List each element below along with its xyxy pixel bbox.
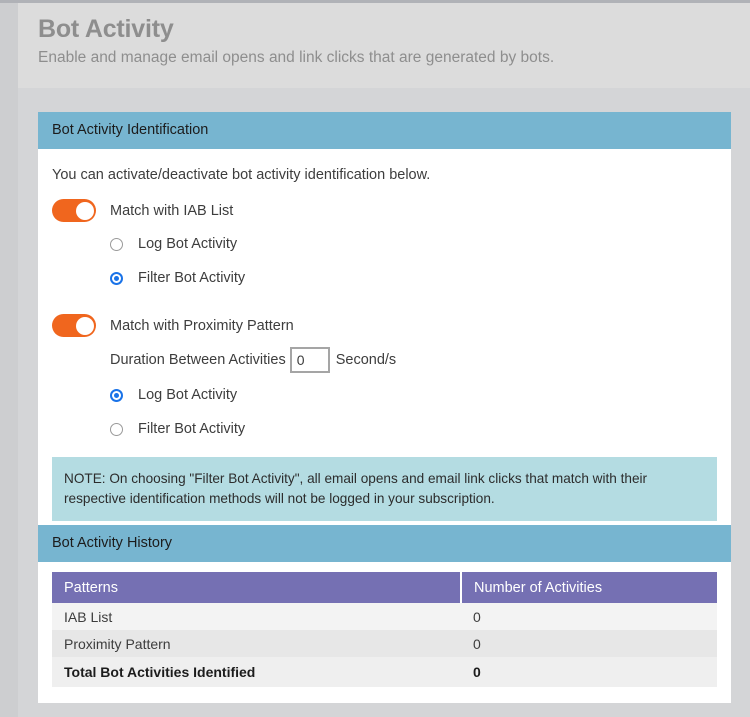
table-header-row: Patterns Number of Activities [52, 572, 717, 603]
radio-row-iab-filter[interactable]: Filter Bot Activity [52, 264, 717, 292]
radio-iab-filter-bot-activity[interactable] [110, 272, 123, 285]
radio-row-iab-log[interactable]: Log Bot Activity [52, 230, 717, 258]
radio-row-proximity-filter[interactable]: Filter Bot Activity [52, 415, 717, 443]
note-box: NOTE: On choosing "Filter Bot Activity",… [52, 457, 717, 521]
cell-pattern-proximity: Proximity Pattern [52, 630, 461, 657]
card-bot-activity-history: Bot Activity History Patterns Number of … [38, 525, 731, 703]
card-header-identification: Bot Activity Identification [38, 112, 731, 149]
cell-total-count: 0 [461, 657, 717, 687]
duration-input[interactable] [290, 347, 330, 373]
card-bot-activity-identification: Bot Activity Identification You can acti… [38, 112, 731, 535]
column-header-patterns: Patterns [52, 572, 461, 603]
column-header-number-of-activities: Number of Activities [461, 572, 717, 603]
radio-proximity-filter-bot-activity[interactable] [110, 423, 123, 436]
cell-pattern-iab-list: IAB List [52, 603, 461, 630]
content-area: Bot Activity Identification You can acti… [18, 88, 750, 717]
table-row: IAB List 0 [52, 603, 717, 630]
cell-count-proximity: 0 [461, 630, 717, 657]
table-head: Patterns Number of Activities [52, 572, 717, 603]
radio-label-proximity-filter: Filter Bot Activity [138, 421, 245, 437]
radio-label-iab-log: Log Bot Activity [138, 236, 237, 252]
radio-iab-log-bot-activity[interactable] [110, 238, 123, 251]
radio-label-proximity-log: Log Bot Activity [138, 387, 237, 403]
page-title: Bot Activity [38, 13, 750, 45]
page-subtitle: Enable and manage email opens and link c… [38, 47, 750, 69]
intro-text: You can activate/deactivate bot activity… [52, 165, 717, 185]
toggle-knob [76, 317, 94, 335]
table-body: IAB List 0 Proximity Pattern 0 Total Bot… [52, 603, 717, 687]
toggle-match-iab-list[interactable] [52, 199, 96, 222]
toggle-match-proximity-pattern[interactable] [52, 314, 96, 337]
radio-proximity-log-bot-activity[interactable] [110, 389, 123, 402]
cell-count-iab-list: 0 [461, 603, 717, 630]
page-header: Bot Activity Enable and manage email ope… [18, 3, 750, 88]
duration-label: Duration Between Activities [110, 352, 286, 368]
toggle-label-proximity: Match with Proximity Pattern [110, 318, 294, 334]
toggle-row-proximity[interactable]: Match with Proximity Pattern [52, 314, 717, 337]
card-body-identification: You can activate/deactivate bot activity… [38, 149, 731, 535]
left-gutter [0, 3, 18, 717]
radio-row-proximity-log[interactable]: Log Bot Activity [52, 381, 717, 409]
toggle-knob [76, 202, 94, 220]
card-body-history: Patterns Number of Activities IAB List 0… [38, 562, 731, 703]
bot-activity-history-table: Patterns Number of Activities IAB List 0… [52, 572, 717, 687]
cell-total-label: Total Bot Activities Identified [52, 657, 461, 687]
duration-row: Duration Between Activities Second/s [52, 347, 717, 373]
table-row: Proximity Pattern 0 [52, 630, 717, 657]
table-row-total: Total Bot Activities Identified 0 [52, 657, 717, 687]
duration-unit-label: Second/s [336, 352, 396, 368]
toggle-row-iab[interactable]: Match with IAB List [52, 199, 717, 222]
card-header-history: Bot Activity History [38, 525, 731, 562]
toggle-label-iab: Match with IAB List [110, 203, 233, 219]
radio-label-iab-filter: Filter Bot Activity [138, 270, 245, 286]
